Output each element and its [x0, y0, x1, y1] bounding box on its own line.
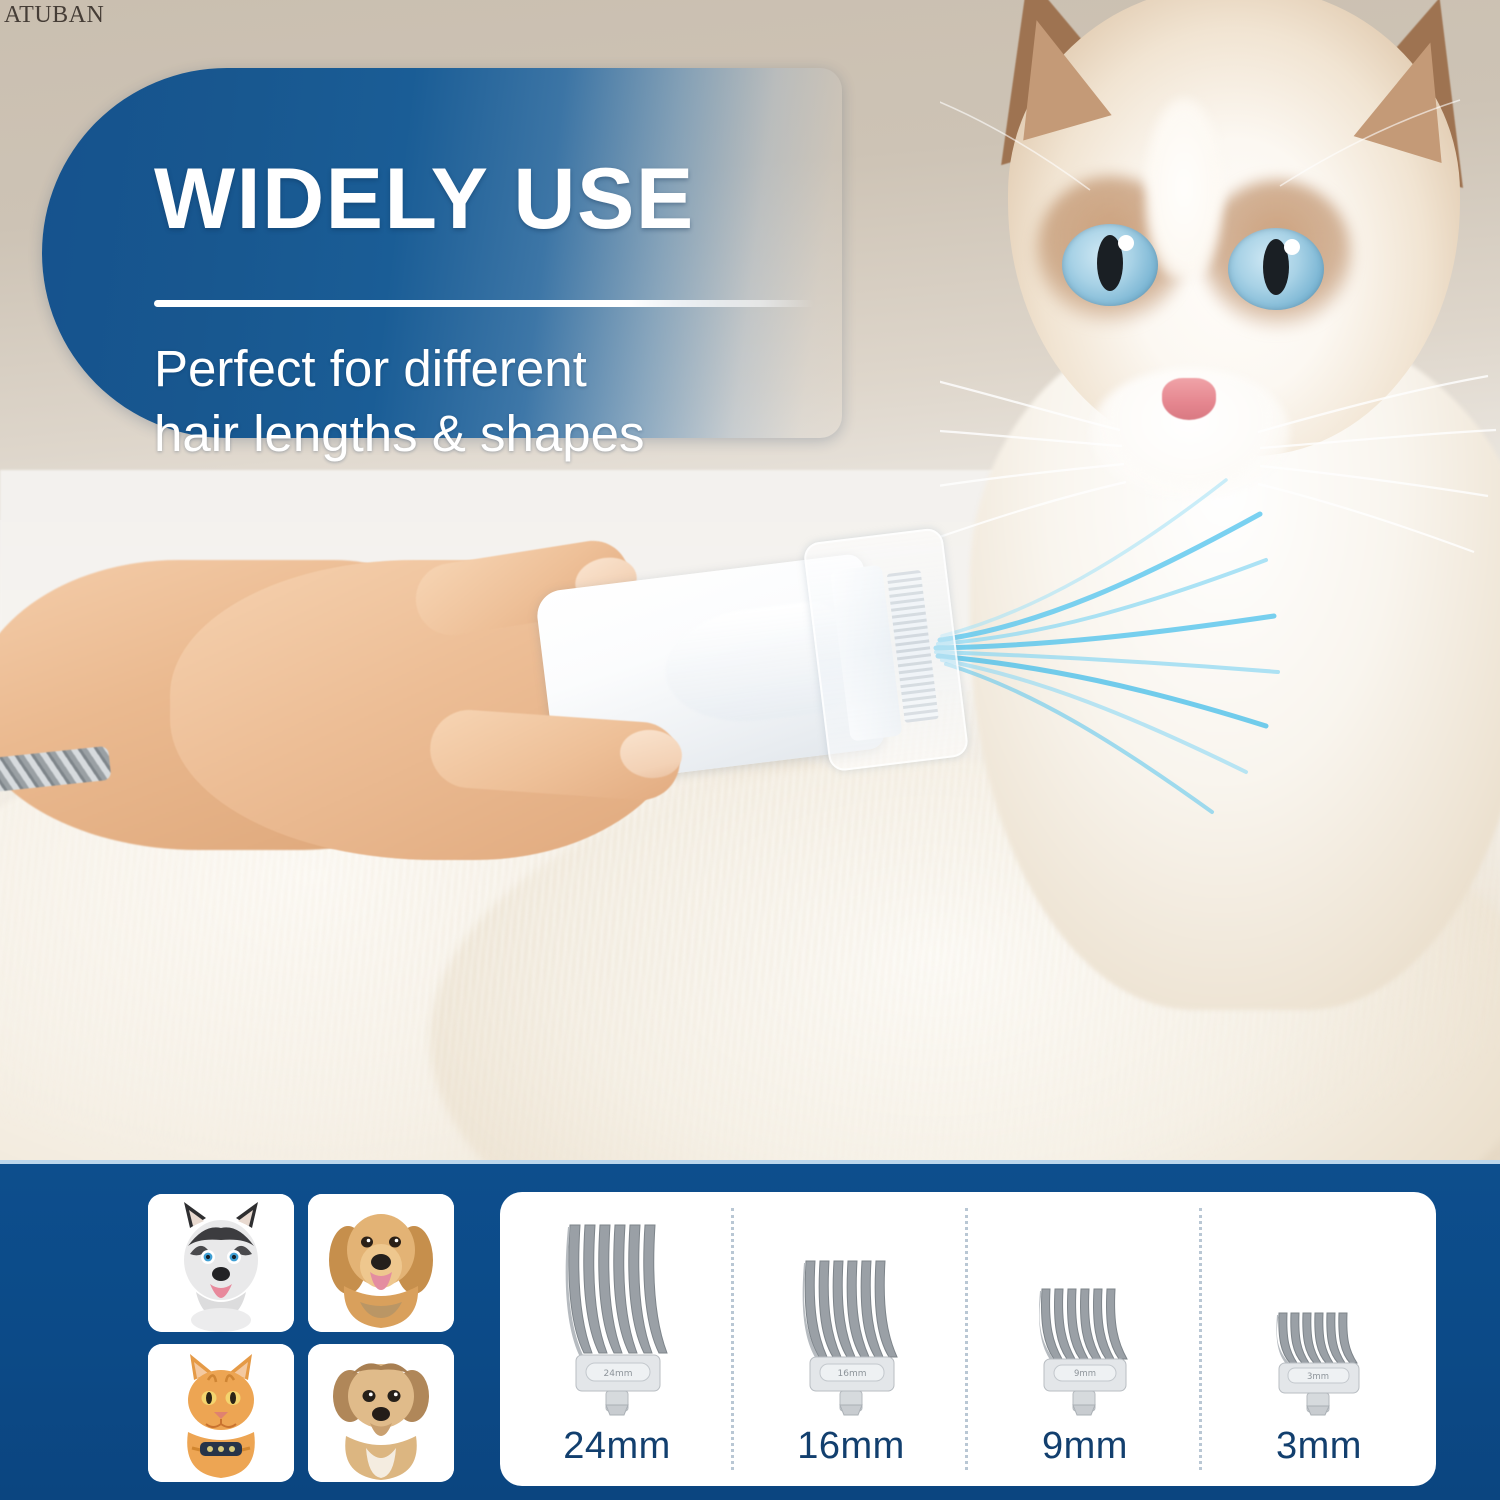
hero-photo: WIDELY USE Perfect for different hair le…	[0, 0, 1500, 1160]
husky-dog-art	[148, 1194, 294, 1332]
cat-eye-glint-right	[1284, 239, 1300, 255]
pet-card-golden-retriever	[308, 1194, 454, 1332]
pet-photo-grid	[148, 1194, 466, 1484]
clipper-guard-comb	[802, 527, 969, 772]
pet-card-husky	[148, 1194, 294, 1332]
guard-comb-size-card: 24mm 24mm	[500, 1192, 1436, 1486]
comb-label-9mm: 9mm	[1042, 1425, 1128, 1468]
cat-eye-glint-left	[1118, 235, 1134, 251]
cat-subject	[940, 0, 1500, 1010]
comb-label-16mm: 16mm	[797, 1425, 905, 1468]
comb-art-24mm: 24mm	[532, 1217, 702, 1425]
pet-card-terrier-puppy	[308, 1344, 454, 1482]
svg-text:3mm: 3mm	[1307, 1372, 1329, 1382]
comb-column-9mm: 9mm 9mm	[968, 1192, 1202, 1486]
comb-label-24mm: 24mm	[563, 1425, 671, 1468]
pet-card-orange-cat	[148, 1344, 294, 1482]
comb-art-3mm: 3mm	[1234, 1217, 1404, 1425]
cat-eye-right	[1228, 228, 1324, 310]
orange-tabby-cat-art	[148, 1344, 294, 1482]
cat-eye-left	[1062, 224, 1158, 306]
golden-retriever-dog-art	[308, 1194, 454, 1332]
cat-forehead-blaze	[1145, 98, 1223, 278]
svg-text:24mm: 24mm	[604, 1369, 633, 1379]
product-marketing-image: WIDELY USE Perfect for different hair le…	[0, 0, 1500, 1500]
cat-nose	[1162, 378, 1216, 420]
banner-title: WIDELY USE	[154, 156, 695, 242]
svg-text:9mm: 9mm	[1074, 1369, 1096, 1379]
svg-text:16mm: 16mm	[838, 1369, 867, 1379]
comb-column-3mm: 3mm 3mm	[1202, 1192, 1436, 1486]
widely-use-banner: WIDELY USE Perfect for different hair le…	[42, 68, 842, 438]
banner-subtitle: Perfect for different hair lengths & sha…	[154, 336, 644, 467]
comb-label-3mm: 3mm	[1276, 1425, 1362, 1468]
brand-watermark: ATUBAN	[4, 2, 104, 29]
bottom-feature-panel: 24mm 24mm	[0, 1160, 1500, 1500]
banner-divider-rule	[154, 300, 814, 307]
comb-art-9mm: 9mm	[1000, 1217, 1170, 1425]
terrier-puppy-art	[308, 1344, 454, 1482]
comb-column-16mm: 16mm 16mm	[734, 1192, 968, 1486]
comb-column-24mm: 24mm 24mm	[500, 1192, 734, 1486]
comb-art-16mm: 16mm	[766, 1217, 936, 1425]
